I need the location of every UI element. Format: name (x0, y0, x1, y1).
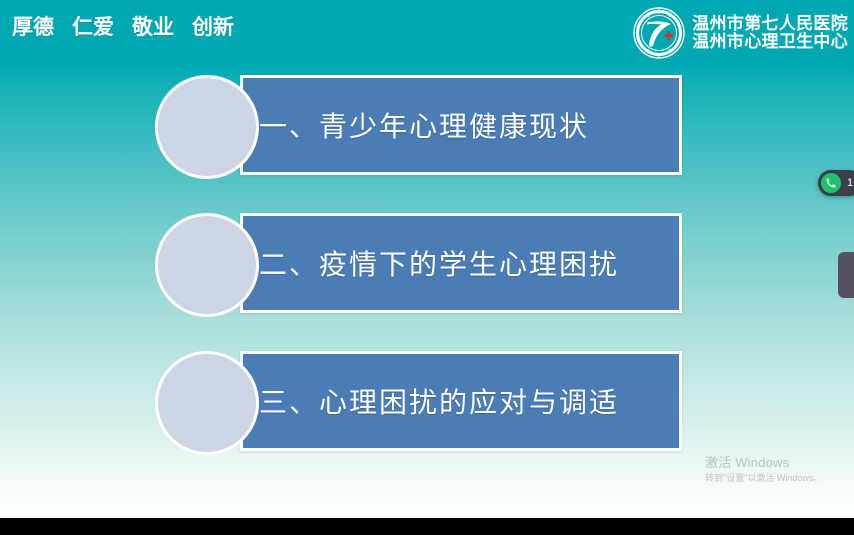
agenda-item-bullet-circle (155, 75, 259, 179)
agenda-item: 三、心理困扰的应对与调适 (155, 351, 682, 451)
agenda-item-label: 一、青少年心理健康现状 (243, 105, 589, 145)
motto-word-2: 仁爱 (72, 16, 114, 39)
hospital-name-line-2: 温州市心理卫生中心 (692, 33, 848, 51)
slide-header-band: 厚德仁爱敬业创新 (0, 0, 854, 67)
hospital-name-line-1: 温州市第七人民医院 (692, 15, 848, 33)
letterbox-bar (0, 518, 854, 535)
hospital-seal-emblem-icon (633, 7, 685, 59)
agenda-item: 二、疫情下的学生心理困扰 (155, 213, 682, 313)
red-cross-icon (665, 32, 673, 40)
agenda-item-bullet-circle (155, 213, 259, 317)
motto-word-3: 敬业 (132, 16, 174, 39)
phone-call-icon (821, 173, 841, 193)
agenda-item-bar: 一、青少年心理健康现状 (240, 75, 682, 175)
agenda-item-bar: 二、疫情下的学生心理困扰 (240, 213, 682, 313)
windows-activation-watermark: 激活 Windows 转到"设置"以激活 Windows。 (705, 455, 822, 485)
watermark-subtitle: 转到"设置"以激活 Windows。 (705, 473, 822, 484)
agenda-item-label: 三、心理困扰的应对与调适 (243, 381, 619, 421)
hospital-logo-text: 温州市第七人民医院 温州市心理卫生中心 (692, 15, 848, 52)
call-participant-count: 1 (847, 178, 853, 189)
agenda-item-bullet-circle (155, 351, 259, 455)
call-participants-badge[interactable]: 1 (818, 170, 854, 196)
motto-word-1: 厚德 (12, 16, 54, 39)
presentation-slide: 厚德仁爱敬业创新 (0, 0, 854, 518)
motto-word-4: 创新 (192, 16, 234, 39)
hospital-logo-lockup: 温州市第七人民医院 温州市心理卫生中心 (633, 5, 848, 61)
agenda-item: 一、青少年心理健康现状 (155, 75, 682, 175)
agenda-item-label: 二、疫情下的学生心理困扰 (243, 243, 619, 283)
watermark-title: 激活 Windows (705, 455, 822, 471)
hospital-motto: 厚德仁爱敬业创新 (12, 11, 234, 41)
collapsed-panel-handle[interactable] (838, 252, 854, 298)
screen-capture: 厚德仁爱敬业创新 (0, 0, 854, 535)
agenda-item-bar: 三、心理困扰的应对与调适 (240, 351, 682, 451)
